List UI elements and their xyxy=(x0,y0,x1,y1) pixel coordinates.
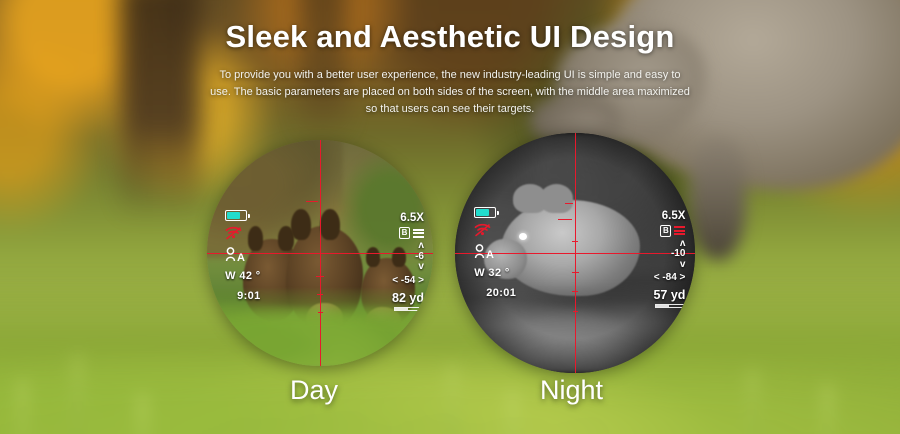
caption-day: Day xyxy=(290,375,338,406)
background-boar-leg xyxy=(690,140,746,260)
scope-preview-day[interactable]: A W 42 ° 9:01 6.5X B ʌ -6 v < -54 > 82 xyxy=(207,140,433,366)
night-scope-image xyxy=(455,133,695,373)
background-grass xyxy=(0,274,900,434)
page-subtitle: To provide you with a better user experi… xyxy=(210,67,690,118)
night-vignette xyxy=(455,133,695,373)
day-scene-grass xyxy=(207,289,433,366)
caption-night: Night xyxy=(540,375,603,406)
scope-preview-night[interactable]: A W 32 ° 20:01 6.5X B ʌ -10 v < -84 > xyxy=(455,133,695,373)
page-title: Sleek and Aesthetic UI Design xyxy=(0,0,900,55)
day-scope-image xyxy=(207,140,433,366)
header: Sleek and Aesthetic UI Design To provide… xyxy=(0,0,900,118)
promo-banner: Sleek and Aesthetic UI Design To provide… xyxy=(0,0,900,434)
